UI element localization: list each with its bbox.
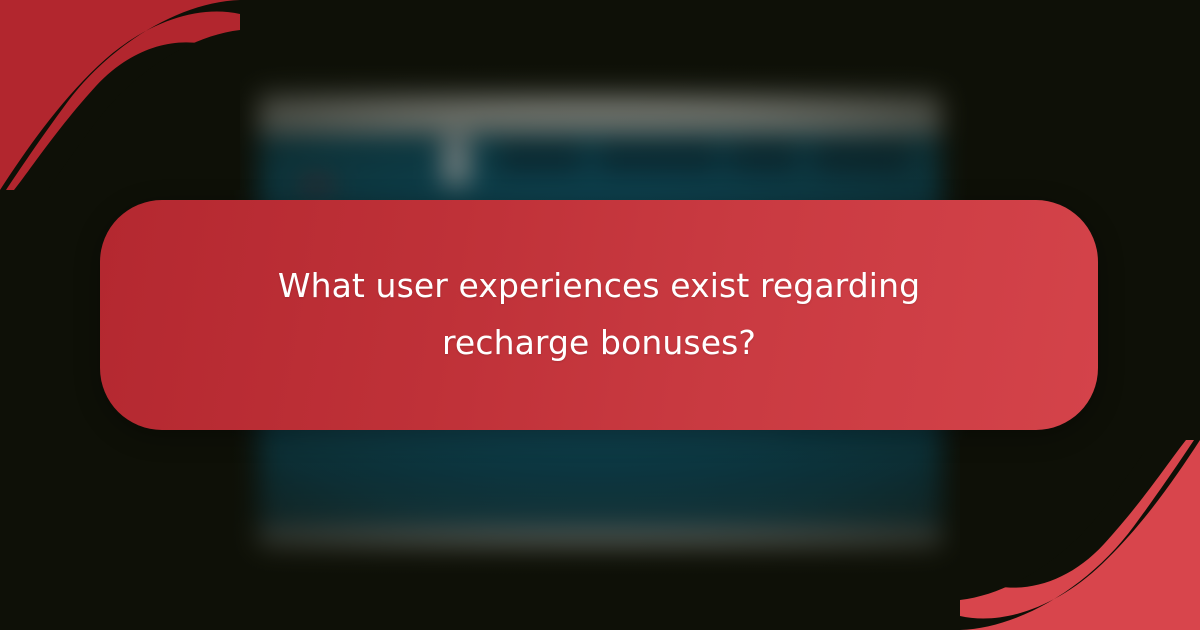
nav-item: [598, 140, 718, 174]
browser-toolbar: [258, 92, 942, 126]
nav-item: [813, 140, 909, 174]
red-swoosh-icon: [0, 0, 240, 190]
nav-item: [728, 140, 798, 174]
corner-decoration-bottom-right: [960, 440, 1200, 630]
corner-decoration-top-left: [0, 0, 240, 190]
red-swoosh-icon: [960, 440, 1200, 630]
question-text: What user experiences exist regarding re…: [239, 258, 959, 372]
site-logo: [443, 136, 469, 184]
page-footer: [258, 530, 942, 548]
promo-card-canvas: What user experiences exist regarding re…: [0, 0, 1200, 630]
footer-strip: [258, 502, 942, 512]
nav-item: [498, 140, 584, 174]
question-overlay-card: What user experiences exist regarding re…: [100, 200, 1098, 430]
